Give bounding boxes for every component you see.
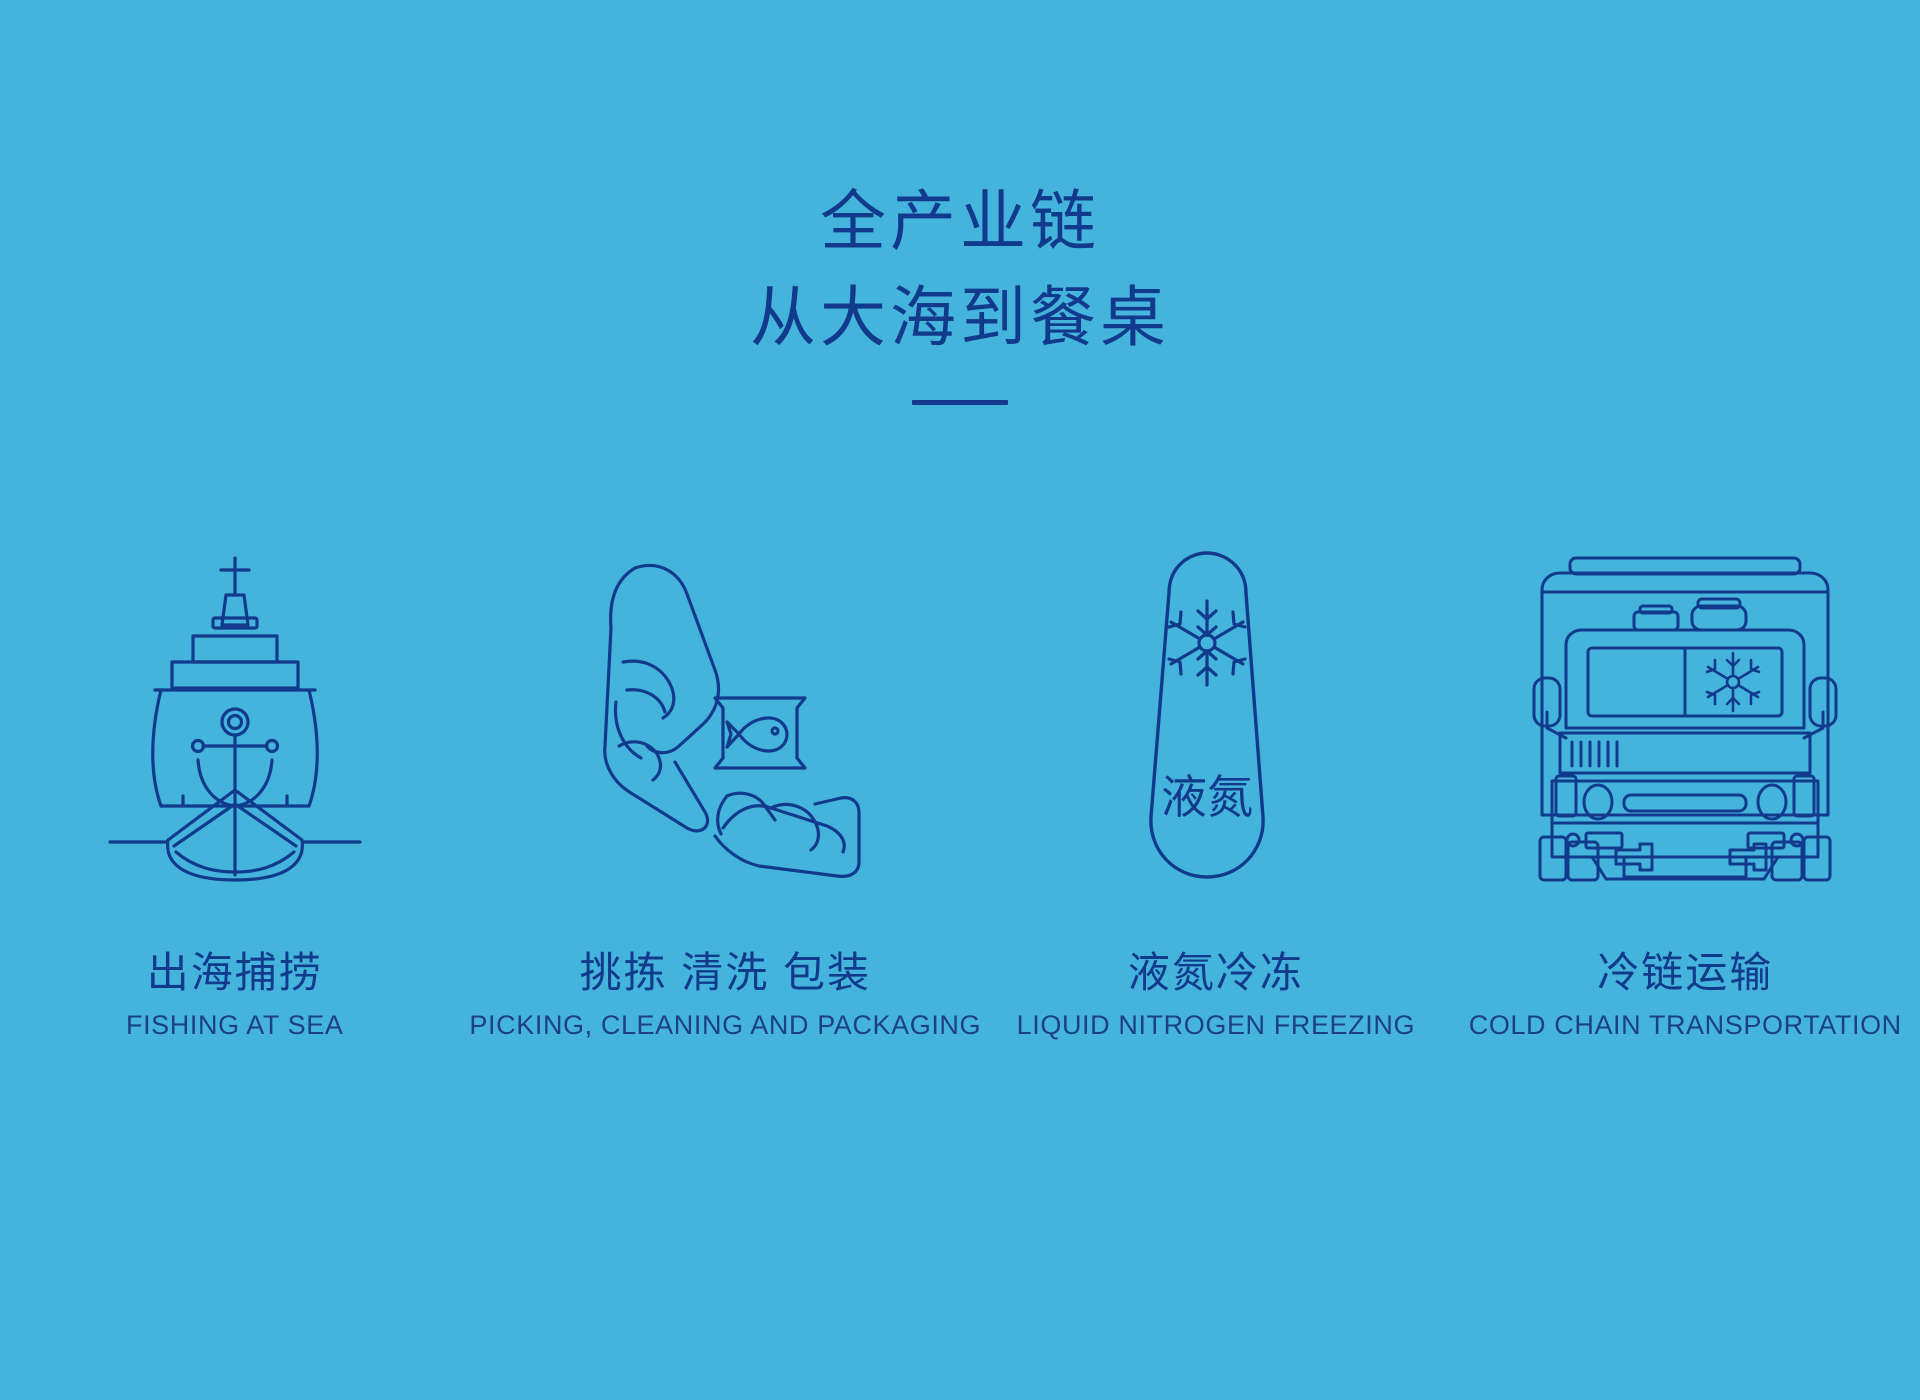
step-label-en: LIQUID NITROGEN FREEZING: [1017, 1010, 1415, 1041]
page-title-line-1: 全产业链: [0, 175, 1920, 271]
step-label-en: FISHING AT SEA: [126, 1010, 343, 1041]
poster-canvas: 全产业链 从大海到餐桌: [0, 0, 1920, 1400]
step-label-cn: 液氮冷冻: [1017, 948, 1415, 998]
step-label-cn: 挑拣 清洗 包装: [469, 948, 981, 998]
header: 全产业链 从大海到餐桌: [0, 175, 1920, 405]
tank-inner-label: 液氮: [1161, 771, 1253, 823]
step-labels: 挑拣 清洗 包装 PICKING, CLEANING AND PACKAGING: [469, 948, 981, 1041]
step-picking-cleaning-packaging[interactable]: 挑拣 清洗 包装 PICKING, CLEANING AND PACKAGING: [469, 520, 981, 1041]
step-label-en: PICKING, CLEANING AND PACKAGING: [469, 1010, 981, 1041]
icon-container: [110, 520, 360, 910]
liquid-nitrogen-tank-icon: 液氮: [1141, 545, 1291, 885]
step-labels: 冷链运输 COLD CHAIN TRANSPORTATION: [1469, 948, 1902, 1041]
hands-fish-package-icon: [575, 550, 875, 880]
step-fishing-at-sea[interactable]: 出海捕捞 FISHING AT SEA: [0, 520, 469, 1041]
fishing-boat-icon: [110, 550, 360, 880]
refrigerated-truck-icon: [1530, 550, 1840, 880]
snowflake-icon: [1707, 653, 1759, 711]
page-title-line-2: 从大海到餐桌: [0, 271, 1920, 367]
snowflake-icon: [1169, 601, 1245, 685]
divider-wrapper: [0, 400, 1920, 405]
icon-container: [575, 520, 875, 910]
step-labels: 出海捕捞 FISHING AT SEA: [126, 948, 343, 1041]
icon-container: [1530, 520, 1840, 910]
step-label-cn: 出海捕捞: [126, 948, 343, 998]
step-cold-chain-transportation[interactable]: 冷链运输 COLD CHAIN TRANSPORTATION: [1451, 520, 1920, 1041]
title-divider: [912, 400, 1008, 405]
step-liquid-nitrogen-freezing[interactable]: 液氮 液氮冷冻 LIQUID NITROGEN FREEZING: [981, 520, 1450, 1041]
icon-container: 液氮: [1141, 520, 1291, 910]
step-label-en: COLD CHAIN TRANSPORTATION: [1469, 1010, 1902, 1041]
step-label-cn: 冷链运输: [1469, 948, 1902, 998]
step-labels: 液氮冷冻 LIQUID NITROGEN FREEZING: [1017, 948, 1415, 1041]
process-steps: 出海捕捞 FISHING AT SEA: [0, 520, 1920, 1041]
